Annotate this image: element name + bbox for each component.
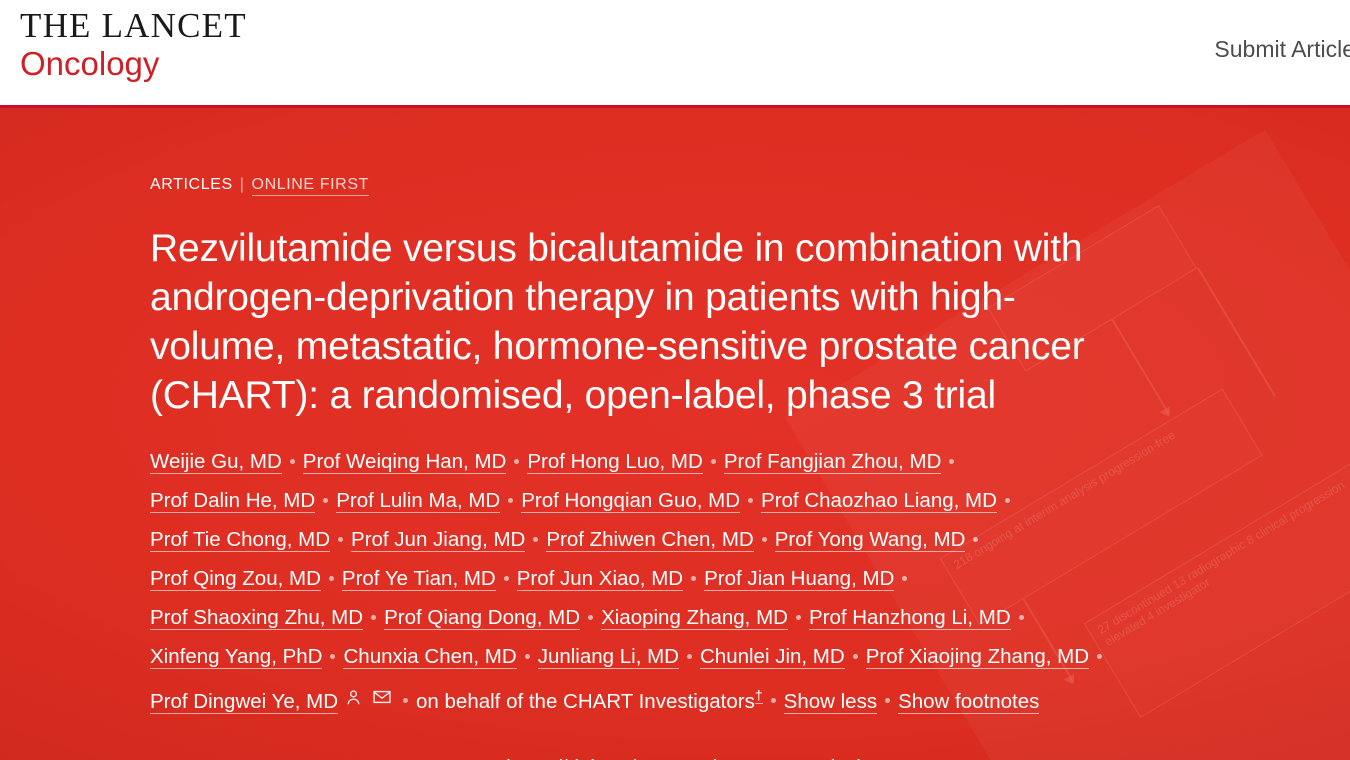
author-separator-dot [691,576,696,581]
author-link[interactable]: Prof Yong Wang, MD [775,528,966,552]
author-separator-dot [371,615,376,620]
author-link[interactable]: Weijie Gu, MD [150,450,282,474]
author-separator-dot [711,459,716,464]
author-separator-dot [1005,498,1010,503]
publication-info: Published: September 05, 2022 DOI: https… [150,751,1120,760]
hero-content: ARTICLES|ONLINE FIRST Rezvilutamide vers… [0,108,1120,760]
article-hero-banner: 218 ongoing at interim analysis progress… [0,108,1350,760]
author-separator-dot [1097,654,1102,659]
author-link[interactable]: Prof Fangjian Zhou, MD [724,450,942,474]
author-separator-dot [504,576,509,581]
show-less-button[interactable]: Show less [784,690,877,714]
author-link[interactable]: Prof Jun Jiang, MD [351,528,525,552]
author-separator-dot [762,537,767,542]
author-link[interactable]: Junliang Li, MD [538,645,679,669]
doi-label: DOI: [458,752,500,760]
author-separator-dot [771,698,776,703]
author-link[interactable]: Prof Weiqing Han, MD [303,450,507,474]
author-link[interactable]: Xinfeng Yang, PhD [150,645,322,669]
author-link[interactable]: Prof Hong Luo, MD [527,450,702,474]
author-separator-dot [290,459,295,464]
author-separator-dot [973,537,978,542]
author-link[interactable]: Prof Zhiwen Chen, MD [546,528,753,552]
author-link[interactable]: Prof Ye Tian, MD [342,567,496,591]
author-separator-dot [885,698,890,703]
watermark-connector-1 [1111,319,1169,414]
envelope-icon[interactable] [372,681,392,720]
author-separator-dot [748,498,753,503]
author-link[interactable]: Prof Qing Zou, MD [150,567,321,591]
author-link[interactable]: Prof Hongqian Guo, MD [521,489,740,513]
show-footnotes-button[interactable]: Show footnotes [898,690,1039,714]
author-separator-dot [338,537,343,542]
author-separator-dot [687,654,692,659]
author-link[interactable]: Prof Tie Chong, MD [150,528,330,552]
author-separator-dot [330,654,335,659]
author-link[interactable]: Prof Dalin He, MD [150,489,315,513]
author-link[interactable]: Prof Shaoxing Zhu, MD [150,606,363,630]
submit-article-link[interactable]: Submit Article [1214,36,1350,63]
author-link[interactable]: Prof Chaozhao Liang, MD [761,489,997,513]
author-list: Weijie Gu, MDProf Weiqing Han, MDProf Ho… [150,442,1120,723]
author-separator-dot [514,459,519,464]
author-separator-dot [329,576,334,581]
watermark-box-discontinued-text: 27 discontinued 13 radiographic 8 clinic… [1095,478,1347,649]
article-kicker: ARTICLES|ONLINE FIRST [150,176,1120,194]
watermark-arrow-1 [1160,406,1175,420]
footnote-marker[interactable]: † [755,687,763,704]
author-link[interactable]: Prof Jun Xiao, MD [517,567,683,591]
kicker-online-first-label[interactable]: ONLINE FIRST [252,176,369,196]
kicker-section-label[interactable]: ARTICLES [150,176,233,193]
author-separator-dot [853,654,858,659]
lancet-oncology-logo[interactable]: THE LANCET Oncology [20,8,247,80]
author-link[interactable]: Prof Xiaojing Zhang, MD [866,645,1089,669]
article-title: Rezvilutamide versus bicalutamide in com… [150,224,1120,420]
author-separator-dot [902,576,907,581]
author-link[interactable]: Prof Lulin Ma, MD [336,489,500,513]
on-behalf-of-text: on behalf of the CHART Investigators [416,690,755,713]
author-link[interactable]: Prof Dingwei Ye, MD [150,690,338,714]
author-link[interactable]: Prof Qiang Dong, MD [384,606,580,630]
author-link[interactable]: Chunlei Jin, MD [700,645,845,669]
person-icon[interactable] [344,681,363,720]
author-link[interactable]: Prof Hanzhong Li, MD [809,606,1011,630]
logo-oncology-wordmark: Oncology [20,47,247,80]
author-link[interactable]: Chunxia Chen, MD [343,645,516,669]
author-link[interactable]: Xiaoping Zhang, MD [601,606,788,630]
kicker-separator: | [240,176,245,193]
page-root: THE LANCET Oncology Submit Article 218 o… [0,0,1350,760]
author-separator-dot [525,654,530,659]
author-separator-dot [533,537,538,542]
published-label: Published: [150,752,246,760]
doi-link[interactable]: https://doi.org/10.1016/S1470-2045(22)00… [506,751,939,760]
watermark-box-discontinued[interactable]: 27 discontinued 13 radiographic 8 clinic… [1084,454,1350,718]
published-date: September 05, 2022 [251,752,437,760]
author-separator-dot [508,498,513,503]
author-link[interactable]: Prof Jian Huang, MD [704,567,894,591]
logo-lancet-wordmark: THE LANCET [20,8,247,43]
author-separator-dot [949,459,954,464]
author-separator-dot [323,498,328,503]
site-header: THE LANCET Oncology Submit Article [0,0,1350,108]
author-separator-dot [403,698,408,703]
watermark-connector-3 [1197,267,1276,397]
author-separator-dot [796,615,801,620]
author-separator-dot [588,615,593,620]
author-separator-dot [1019,615,1024,620]
